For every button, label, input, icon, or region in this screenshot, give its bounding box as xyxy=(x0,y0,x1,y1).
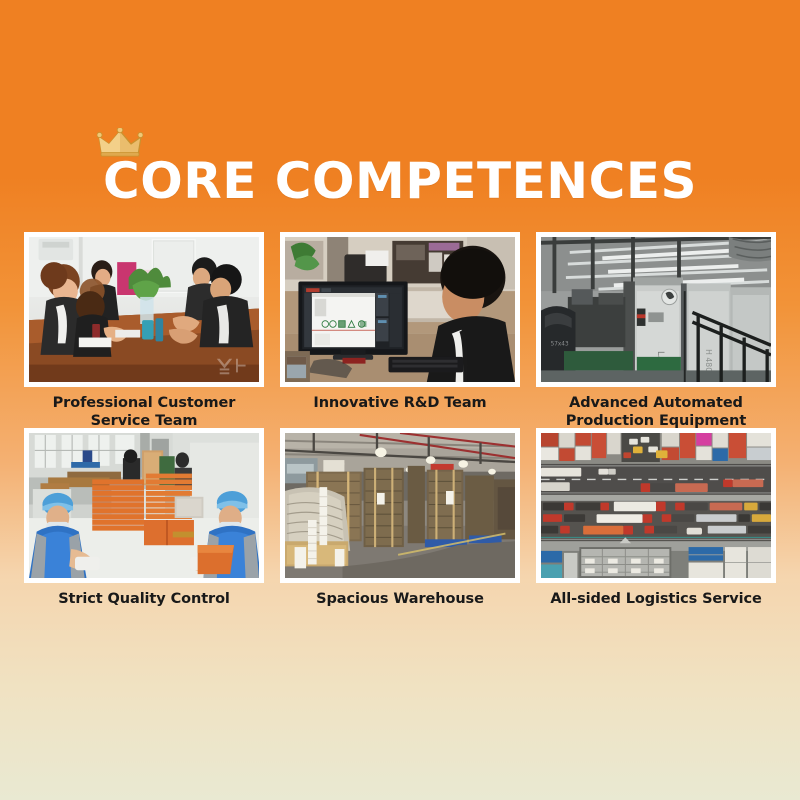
card-caption-line1: Innovative R&D Team xyxy=(313,395,486,411)
card-caption-line1: Spacious Warehouse xyxy=(316,591,484,607)
card-caption-line1: Strict Quality Control xyxy=(58,591,230,607)
card-image-frame xyxy=(24,232,264,387)
card-advanced-automated-production-equipment[interactable]: LAND 800 H 480 800 57x43 xyxy=(536,232,776,430)
card-caption: All-sided Logistics Service xyxy=(536,590,776,608)
designer-at-computer-photo xyxy=(285,237,515,382)
card-caption-line1: All-sided Logistics Service xyxy=(550,591,761,607)
competence-grid-row-2: Strict Quality Control xyxy=(24,428,776,608)
card-caption: Advanced Automated Production Equipment xyxy=(536,394,776,430)
card-caption: Spacious Warehouse xyxy=(280,590,520,608)
card-spacious-warehouse[interactable]: Spacious Warehouse xyxy=(280,428,520,608)
competence-grid-row-1: Professional Customer Service Team xyxy=(24,232,776,430)
printing-press-machinery-photo: LAND 800 H 480 800 57x43 xyxy=(541,237,771,382)
card-image-frame xyxy=(280,428,520,583)
card-caption: Innovative R&D Team xyxy=(280,394,520,412)
warehouse-stacked-goods-photo xyxy=(285,433,515,578)
office-meeting-photo xyxy=(29,237,259,382)
card-caption-line1: Advanced Automated xyxy=(569,395,743,411)
aerial-container-yard-trucks-photo xyxy=(541,433,771,578)
card-all-sided-logistics-service[interactable]: All-sided Logistics Service xyxy=(536,428,776,608)
card-image-frame xyxy=(536,428,776,583)
card-caption-line1: Professional Customer xyxy=(53,395,236,411)
page-title: CORE COMPETENCES xyxy=(103,152,697,210)
card-professional-customer-service-team[interactable]: Professional Customer Service Team xyxy=(24,232,264,430)
card-innovative-rd-team[interactable]: Innovative R&D Team xyxy=(280,232,520,430)
core-competences-banner: CORE COMPETENCES xyxy=(0,0,800,800)
card-image-frame xyxy=(280,232,520,387)
card-caption: Professional Customer Service Team xyxy=(24,394,264,430)
card-image-frame: LAND 800 H 480 800 57x43 xyxy=(536,232,776,387)
quality-inspection-workers-photo xyxy=(29,433,259,578)
card-image-frame xyxy=(24,428,264,583)
svg-text:57x43: 57x43 xyxy=(551,341,569,347)
page-title-block: CORE COMPETENCES xyxy=(0,152,800,210)
card-strict-quality-control[interactable]: Strict Quality Control xyxy=(24,428,264,608)
card-caption: Strict Quality Control xyxy=(24,590,264,608)
